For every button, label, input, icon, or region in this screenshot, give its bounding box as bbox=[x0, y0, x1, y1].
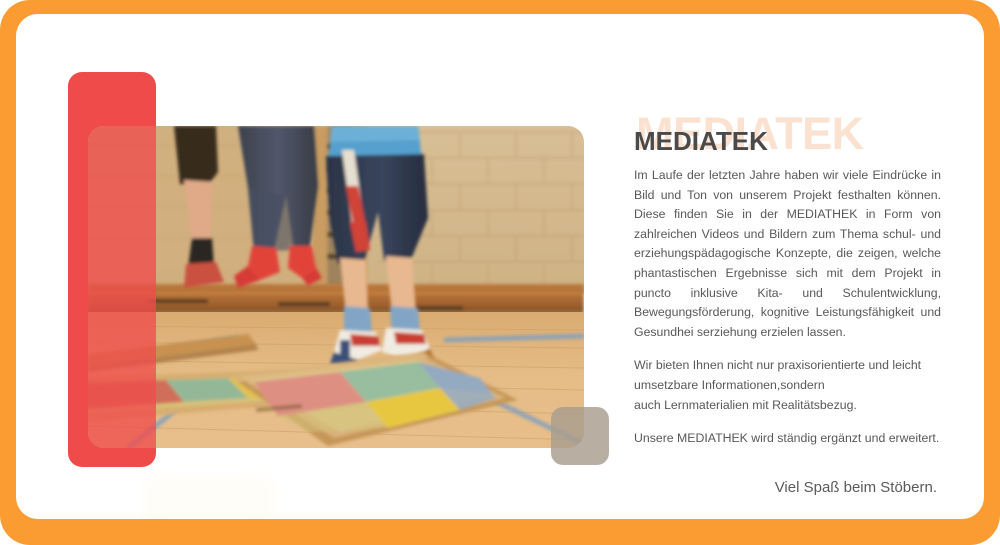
decorative-grey-square bbox=[551, 407, 609, 465]
page-title: MEDIATEK MEDIATEK bbox=[634, 110, 941, 166]
page-title-main: MEDIATEK bbox=[634, 126, 768, 157]
offer-paragraph-line-3: auch Lernmaterialien mit Realitätsbezug. bbox=[634, 396, 941, 416]
text-column: MEDIATEK MEDIATEK Im Laufe der letzten J… bbox=[634, 110, 941, 496]
hero-photo bbox=[88, 126, 584, 448]
offer-paragraph-line-1: Wir bieten Ihnen nicht nur praxisorienti… bbox=[634, 356, 941, 376]
gymnasium-photo-illustration bbox=[88, 126, 584, 448]
update-paragraph: Unsere MEDIATHEK wird ständig ergänzt un… bbox=[634, 429, 941, 449]
decorative-blob bbox=[144, 476, 274, 519]
offer-paragraph-line-2: umsetzbare Informationen,sondern bbox=[634, 376, 941, 396]
content-card: MEDIATEK MEDIATEK Im Laufe der letzten J… bbox=[16, 14, 984, 519]
page-frame: MEDIATEK MEDIATEK Im Laufe der letzten J… bbox=[0, 0, 1000, 545]
offer-paragraph: Wir bieten Ihnen nicht nur praxisorienti… bbox=[634, 356, 941, 415]
intro-paragraph: Im Laufe der letzten Jahre haben wir vie… bbox=[634, 166, 941, 342]
closing-line: Viel Spaß beim Stöbern. bbox=[634, 479, 941, 496]
